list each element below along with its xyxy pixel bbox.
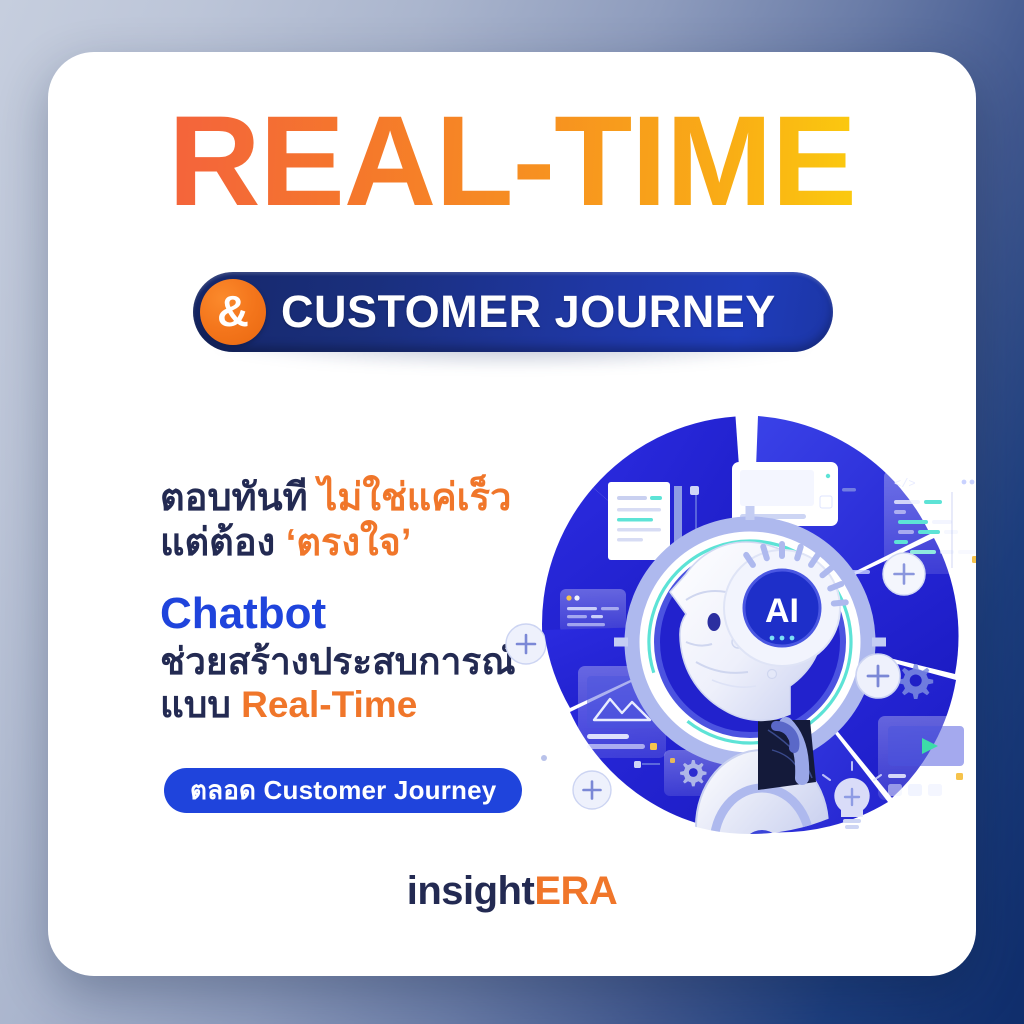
ai-chatbot-illustration: </> — [500, 374, 976, 894]
copy-line-2-navy: แต่ต้อง — [160, 522, 275, 564]
plus-button-bottom-left[interactable] — [573, 771, 611, 809]
customer-journey-banner: & CUSTOMER JOURNEY — [193, 272, 833, 358]
copy-line-5-orange: Real-Time — [241, 684, 417, 725]
copy-line-1-navy: ตอบทันที — [160, 477, 308, 519]
chatbot-label: Chatbot — [160, 589, 326, 638]
robot-neck — [758, 720, 816, 790]
copy-line-2-orange: ‘ตรงใจ’ — [286, 522, 412, 564]
plus-button-right[interactable] — [856, 654, 900, 698]
copy-line-5-navy: แบบ — [160, 684, 231, 725]
page-title: REAL-TIME — [48, 98, 976, 226]
copy-line-1-orange: ไม่ใช่แค่เร็ว — [318, 477, 511, 519]
ampersand-badge: & — [200, 279, 266, 345]
journey-pill-badge: ตลอด Customer Journey — [164, 768, 522, 813]
ai-badge-label: AI — [765, 592, 799, 630]
gear-icon — [898, 664, 933, 699]
code-icon-glyph: </> — [894, 477, 916, 491]
media-card-icon — [878, 716, 974, 800]
dial-dots — [770, 636, 795, 641]
promo-card: REAL-TIME & CUSTOMER JOURNEY ตอบทันที ไม… — [48, 52, 976, 976]
banner-label: CUSTOMER JOURNEY — [281, 286, 776, 338]
robot-eye — [708, 613, 721, 631]
banner-pill: & CUSTOMER JOURNEY — [193, 272, 833, 352]
plus-button-top-right[interactable] — [883, 553, 925, 595]
copy-line-4-navy: ช่วยสร้างประสบการณ์ — [160, 641, 516, 682]
plus-button-left[interactable] — [506, 624, 546, 664]
